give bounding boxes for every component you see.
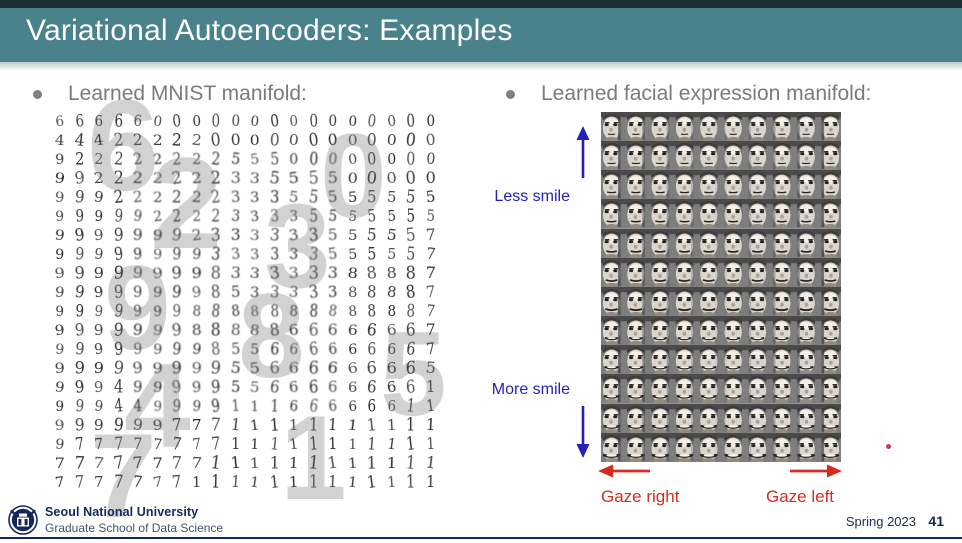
face-image-cell — [625, 112, 649, 141]
face-image-cell — [793, 316, 817, 345]
face-image-cell — [649, 287, 673, 316]
mnist-digit-cell: 9 — [187, 396, 206, 417]
mnist-digit-cell: 0 — [187, 112, 206, 132]
face-image-cell — [793, 170, 817, 199]
mnist-digit-cell: 3 — [283, 263, 305, 283]
mnist-digit-cell: 1 — [304, 472, 323, 494]
mnist-digit-cell: 5 — [382, 245, 401, 264]
mnist-digit-cell: 0 — [245, 131, 265, 149]
mnist-digit-cell: 2 — [186, 187, 207, 208]
axis-label-less-smile: Less smile — [410, 188, 570, 206]
mnist-digit-cell: 9 — [89, 301, 108, 321]
mnist-digit-cell: 6 — [381, 339, 401, 359]
mnist-digit-cell: 1 — [381, 472, 402, 492]
mnist-digit-cell: 9 — [49, 225, 71, 245]
mnist-digit-cell: 6 — [50, 111, 70, 131]
face-image-cell — [745, 258, 769, 287]
face-image-cell — [745, 170, 769, 199]
mnist-digit-cell: 2 — [148, 207, 167, 227]
mnist-digit-cell: 9 — [127, 320, 149, 341]
mnist-digit-cell: 9 — [88, 264, 109, 283]
mnist-digit-cell: 7 — [127, 472, 148, 494]
face-image-cell — [793, 112, 817, 141]
mnist-digit-cell: 6 — [380, 320, 402, 341]
mnist-digit-cell: 0 — [382, 150, 401, 169]
face-image-cell — [673, 374, 697, 403]
mnist-digit-cell: 9 — [90, 207, 108, 226]
mnist-digit-cell: 9 — [49, 359, 71, 378]
mnist-digit-cell: 5 — [342, 226, 363, 245]
face-image-cell — [697, 374, 721, 403]
mnist-digit-cell: 0 — [147, 111, 167, 131]
mnist-digit-cell: 5 — [225, 377, 245, 397]
mnist-digit-cell: 6 — [283, 359, 304, 378]
face-image-cell — [625, 287, 649, 316]
mnist-manifold-figure: 6666600000000000000044422222000000000000… — [50, 112, 440, 492]
face-image-cell — [649, 141, 673, 170]
mnist-digit-cell: 4 — [88, 130, 110, 151]
mnist-digit-cell: 9 — [88, 282, 109, 303]
bullet-label-mnist: Learned MNIST manifold: — [68, 82, 307, 106]
mnist-digit-cell: 1 — [401, 471, 421, 493]
mnist-digit-cell: 5 — [244, 378, 265, 398]
face-image-cell — [817, 141, 841, 170]
mnist-digit-cell: 3 — [225, 226, 245, 246]
face-image-cell — [817, 374, 841, 403]
face-image-cell — [697, 229, 721, 258]
face-image-cell — [649, 199, 673, 228]
face-image-cell — [673, 170, 697, 199]
mnist-digit-cell: 0 — [283, 130, 305, 151]
face-image-cell — [649, 258, 673, 287]
bullet-label-faces: Learned facial expression manifold: — [541, 82, 871, 106]
face-image-cell — [625, 374, 649, 403]
face-image-cell — [601, 258, 625, 287]
face-image-cell — [697, 170, 721, 199]
mnist-digit-cell: 9 — [50, 188, 70, 207]
face-image-cell — [817, 316, 841, 345]
face-image-cell — [601, 404, 625, 433]
mnist-digit-cell: 8 — [285, 302, 303, 321]
mnist-digit-cell: 9 — [51, 245, 69, 263]
face-image-cell — [649, 433, 673, 462]
mnist-digit-cell: 1 — [284, 473, 304, 493]
mnist-digit-cell: 8 — [343, 302, 362, 322]
face-image-cell — [793, 345, 817, 374]
mnist-digit-cell: 1 — [342, 473, 363, 493]
mnist-digit-cell: 3 — [285, 207, 303, 226]
mnist-digit-cell: 1 — [283, 434, 304, 455]
face-image-cell — [649, 170, 673, 199]
mnist-digit-cell: 7 — [49, 473, 70, 493]
mnist-digit-cell: 0 — [284, 111, 303, 131]
footer-page-number: 41 — [928, 513, 944, 529]
face-image-cell — [817, 199, 841, 228]
face-image-cell — [649, 345, 673, 374]
face-image-cell — [817, 404, 841, 433]
mnist-digit-cell: 8 — [245, 302, 264, 321]
mnist-digit-cell: 5 — [246, 340, 264, 358]
axis-label-gaze-left: Gaze left — [766, 487, 834, 507]
face-image-cell — [673, 141, 697, 170]
mnist-digit-cell: 5 — [342, 206, 362, 226]
mnist-digit-cell: 2 — [89, 150, 108, 170]
mnist-digit-cell: 5 — [245, 150, 265, 170]
mnist-digit-cell: 2 — [187, 207, 205, 226]
mnist-digit-cell: 1 — [361, 471, 383, 494]
mnist-digit-cell: 1 — [381, 415, 402, 435]
face-image-cell — [817, 229, 841, 258]
mnist-digit-cell: 9 — [50, 435, 70, 455]
mnist-digit-cell: 5 — [421, 206, 440, 227]
mnist-digit-cell: 1 — [244, 472, 265, 492]
mnist-digit-cell: 2 — [148, 188, 167, 206]
mnist-digit-cell: 0 — [382, 111, 401, 132]
face-image-cell — [793, 287, 817, 316]
mnist-digit-cell: 7 — [419, 263, 441, 283]
mnist-digit-cell: 8 — [381, 282, 402, 303]
face-image-cell — [793, 433, 817, 462]
face-image-cell — [721, 141, 745, 170]
face-image-cell — [625, 170, 649, 199]
face-image-cell — [673, 229, 697, 258]
mnist-digit-cell: 3 — [244, 226, 265, 245]
footer-term: Spring 2023 — [846, 514, 916, 529]
face-image-cell — [697, 433, 721, 462]
arrow-up-icon — [572, 126, 594, 178]
mnist-digit-cell: 0 — [421, 112, 439, 132]
face-image-cell — [817, 258, 841, 287]
mnist-digit-cell: 8 — [225, 320, 246, 341]
mnist-digit-cell: 6 — [380, 359, 402, 379]
mnist-digit-cell: 2 — [147, 131, 168, 150]
mnist-digit-cell: 7 — [186, 434, 206, 455]
face-image-cell — [721, 258, 745, 287]
face-image-cell — [721, 229, 745, 258]
face-image-cell — [673, 199, 697, 228]
mnist-digit-cell: 0 — [420, 149, 440, 170]
mnist-digit-cell: 9 — [49, 377, 70, 397]
face-image-cell — [649, 316, 673, 345]
mnist-digit-cell: 9 — [49, 320, 71, 341]
mnist-digit-cell: 0 — [343, 112, 362, 131]
mnist-digit-cell: 7 — [69, 472, 89, 494]
mnist-digit-cell: 9 — [186, 377, 207, 397]
mnist-digit-cell: 0 — [285, 150, 303, 169]
face-image-cell — [625, 433, 649, 462]
face-image-cell — [769, 112, 793, 141]
mnist-digit-cell: 6 — [380, 377, 402, 398]
mnist-digit-cell: 9 — [50, 340, 69, 359]
arrow-left-icon — [598, 461, 650, 481]
mnist-digit-cell: 5 — [342, 245, 362, 264]
mnist-digit-cell: 9 — [128, 377, 148, 398]
face-image-cell — [745, 199, 769, 228]
face-image-cell — [601, 374, 625, 403]
mnist-digit-cell: 1 — [420, 415, 441, 436]
bullet-dot-icon — [506, 90, 515, 99]
face-image-cell — [625, 404, 649, 433]
mnist-digit-cell: 8 — [186, 320, 207, 340]
face-image-cell — [769, 316, 793, 345]
face-image-cell — [649, 229, 673, 258]
face-image-cell — [625, 258, 649, 287]
mnist-digit-cell: 6 — [342, 378, 362, 397]
face-image-cell — [697, 199, 721, 228]
mnist-digit-cell: 3 — [245, 245, 264, 264]
mnist-digit-cell: 8 — [187, 302, 206, 322]
mnist-digit-cell: 6 — [343, 340, 362, 359]
mnist-digit-cell: 7 — [147, 435, 167, 454]
mnist-digit-cell: 7 — [146, 454, 168, 473]
mnist-digit-cell: 5 — [381, 188, 401, 208]
mnist-digit-cell: 9 — [128, 283, 147, 303]
mnist-digit-cell: 9 — [185, 282, 207, 303]
mnist-digit-cell: 8 — [323, 300, 343, 322]
mnist-digit-cell: 9 — [128, 205, 148, 227]
mnist-digit-cell: 7 — [186, 416, 206, 435]
mnist-digit-cell: 5 — [282, 168, 305, 189]
mnist-digit-cell: 6 — [322, 320, 343, 340]
mnist-digit-cell: 9 — [146, 415, 168, 435]
mnist-digit-cell: 3 — [245, 188, 265, 207]
mnist-digit-cell: 2 — [187, 150, 206, 169]
mnist-digit-cell: 9 — [148, 245, 167, 264]
face-image-cell — [769, 141, 793, 170]
face-image-cell — [625, 199, 649, 228]
face-image-cell — [697, 404, 721, 433]
face-image-cell — [769, 258, 793, 287]
mnist-digit-cell: 9 — [50, 150, 69, 169]
mnist-digit-cell: 2 — [147, 150, 167, 169]
mnist-digit-cell: 4 — [49, 131, 70, 150]
face-image-cell — [769, 433, 793, 462]
mnist-digit-cell: 3 — [225, 206, 245, 228]
mnist-digit-cell: 9 — [148, 397, 166, 415]
mnist-digit-cell: 9 — [51, 397, 69, 416]
top-accent-strip — [0, 0, 962, 8]
mnist-digit-cell: 0 — [245, 112, 264, 132]
footer-university-name: Seoul National University — [45, 505, 198, 519]
face-image-cell — [793, 374, 817, 403]
face-image-cell — [793, 141, 817, 170]
footer-divider — [0, 537, 962, 539]
mnist-digit-cell: 6 — [283, 320, 305, 341]
mnist-digit-cell: 6 — [343, 397, 361, 416]
mnist-digit-cell: 1 — [244, 454, 266, 473]
mnist-digit-cell: 9 — [186, 244, 206, 264]
mnist-digit-cell: 8 — [244, 320, 266, 340]
face-image-cell — [721, 112, 745, 141]
face-image-cell — [745, 433, 769, 462]
face-image-cell — [745, 287, 769, 316]
mnist-digit-cell: 7 — [420, 243, 441, 265]
mnist-digit-cell: 1 — [246, 397, 264, 416]
mnist-digit-cell: 0 — [342, 149, 363, 169]
mnist-digit-cell: 6 — [283, 377, 304, 398]
mnist-digit-cell: 5 — [225, 148, 246, 170]
face-image-cell — [649, 404, 673, 433]
arrow-right-icon — [790, 461, 842, 481]
mnist-digit-cell: 5 — [243, 358, 266, 378]
face-image-cell — [601, 433, 625, 462]
mnist-digit-cell: 9 — [88, 321, 109, 341]
face-image-cell — [817, 170, 841, 199]
face-image-cell — [601, 345, 625, 374]
face-image-cell — [769, 229, 793, 258]
mnist-digit-cell: 1 — [381, 434, 402, 455]
mnist-digit-cell: 9 — [88, 339, 109, 360]
face-image-cell — [721, 287, 745, 316]
mnist-digit-cell: 1 — [322, 415, 344, 436]
face-image-cell — [601, 287, 625, 316]
mnist-digit-cell: 6 — [323, 378, 342, 398]
mnist-digit-cell: 0 — [342, 131, 363, 150]
mnist-digit-cell: 0 — [226, 111, 245, 132]
face-image-cell — [721, 170, 745, 199]
face-image-cell — [601, 170, 625, 199]
mnist-digit-cell: 3 — [283, 282, 305, 303]
slide-canvas: Variational Autoencoders: Examples Learn… — [0, 0, 962, 543]
mnist-digit-cell: 7 — [108, 471, 128, 494]
mnist-digit-cell: 7 — [128, 434, 147, 454]
page-title: Variational Autoencoders: Examples — [26, 14, 513, 48]
mnist-digit-cell: 6 — [90, 112, 108, 131]
mnist-digit-cell: 9 — [88, 416, 109, 436]
mnist-digit-cell: 9 — [89, 244, 109, 265]
snu-logo-icon — [6, 504, 40, 536]
face-image-cell — [673, 112, 697, 141]
face-image-cell — [769, 170, 793, 199]
face-image-cell — [793, 258, 817, 287]
axis-label-more-smile: More smile — [410, 381, 570, 399]
bullet-item-faces: Learned facial expression manifold: — [506, 82, 871, 106]
mnist-digit-cell: 5 — [322, 169, 343, 189]
face-image-grid — [601, 112, 841, 462]
face-image-cell — [793, 404, 817, 433]
mnist-digit-cell: 3 — [245, 206, 265, 226]
face-image-cell — [673, 345, 697, 374]
face-image-cell — [601, 112, 625, 141]
footer-school-name: Graduate School of Data Science — [45, 521, 223, 535]
face-image-cell — [673, 316, 697, 345]
face-image-cell — [769, 199, 793, 228]
face-image-cell — [649, 112, 673, 141]
face-image-cell — [673, 433, 697, 462]
mnist-digit-cell: 9 — [148, 302, 166, 321]
mnist-digit-cell: 9 — [48, 263, 71, 283]
mnist-digit-cell: 9 — [88, 187, 110, 208]
mnist-digit-cell: 1 — [283, 416, 304, 436]
mnist-digit-cell: 1 — [343, 435, 362, 454]
mnist-digit-cell: 9 — [89, 396, 109, 417]
face-image-cell — [673, 258, 697, 287]
face-image-cell — [601, 316, 625, 345]
mnist-digit-cell: 5 — [382, 207, 401, 227]
mnist-digit-cell: 9 — [51, 302, 69, 321]
face-manifold-figure — [601, 112, 841, 462]
mnist-digit-cell: 7 — [49, 454, 70, 472]
face-image-cell — [793, 229, 817, 258]
mnist-digit-cell: 6 — [382, 397, 401, 417]
mnist-digit-cell: 0 — [323, 149, 343, 171]
face-image-cell — [721, 433, 745, 462]
mnist-digit-cell: 8 — [343, 283, 362, 301]
face-image-cell — [721, 404, 745, 433]
mnist-digit-cell: 7 — [420, 301, 440, 323]
mnist-digit-cell: 5 — [283, 187, 304, 207]
face-image-cell — [721, 374, 745, 403]
face-image-cell — [697, 112, 721, 141]
mnist-digit-cell: 9 — [185, 264, 207, 284]
face-image-cell — [817, 433, 841, 462]
mnist-digit-cell: 9 — [127, 225, 148, 245]
mnist-digit-cell: 1 — [323, 472, 343, 493]
face-image-cell — [697, 316, 721, 345]
mnist-digit-cell: 0 — [324, 111, 342, 131]
face-image-cell — [769, 374, 793, 403]
mnist-digit-cell: 9 — [148, 340, 167, 359]
mnist-digit-cell: 9 — [186, 339, 207, 360]
face-image-cell — [745, 404, 769, 433]
mnist-digit-cell: 1 — [244, 415, 266, 436]
face-image-cell — [769, 345, 793, 374]
mnist-digit-cell: 6 — [284, 396, 303, 416]
mnist-digit-cell: 5 — [342, 188, 362, 207]
face-image-cell — [625, 229, 649, 258]
bullet-dot-icon — [33, 90, 42, 99]
mnist-digit-cell: 1 — [245, 435, 264, 454]
mnist-digit-cell: 2 — [185, 225, 207, 246]
mnist-digit-cell: 1 — [225, 472, 246, 493]
mnist-digit-cell: 1 — [420, 472, 440, 492]
face-image-cell — [817, 112, 841, 141]
mnist-digit-cell: 9 — [49, 416, 71, 436]
mnist-digit-cell: 9 — [50, 207, 69, 226]
face-image-cell — [697, 141, 721, 170]
face-image-cell — [745, 345, 769, 374]
face-image-cell — [601, 141, 625, 170]
mnist-digit-cell: 7 — [89, 473, 108, 492]
axis-label-gaze-right: Gaze right — [601, 487, 679, 507]
mnist-digit-cell: 9 — [147, 283, 167, 302]
face-image-cell — [697, 287, 721, 316]
face-image-cell — [625, 316, 649, 345]
mnist-digit-cell: 3 — [284, 245, 303, 265]
face-image-cell — [769, 404, 793, 433]
stray-red-dot-marker — [886, 444, 891, 449]
face-image-cell — [721, 345, 745, 374]
face-image-cell — [745, 141, 769, 170]
face-image-cell — [745, 112, 769, 141]
mnist-digit-grid: 6666600000000000000044422222000000000000… — [50, 112, 440, 492]
face-image-cell — [625, 141, 649, 170]
mnist-digit-cell: 7 — [89, 434, 109, 454]
face-image-cell — [745, 374, 769, 403]
face-image-cell — [793, 199, 817, 228]
mnist-digit-cell: 6 — [128, 111, 147, 132]
face-image-cell — [649, 374, 673, 403]
mnist-digit-cell: 7 — [147, 472, 168, 492]
face-image-cell — [721, 199, 745, 228]
face-image-cell — [601, 229, 625, 258]
bullet-item-mnist: Learned MNIST manifold: — [33, 82, 307, 106]
face-image-cell — [625, 345, 649, 374]
mnist-digit-cell: 3 — [245, 283, 265, 302]
face-image-cell — [697, 258, 721, 287]
face-image-cell — [817, 345, 841, 374]
mnist-digit-cell: 6 — [284, 339, 304, 360]
